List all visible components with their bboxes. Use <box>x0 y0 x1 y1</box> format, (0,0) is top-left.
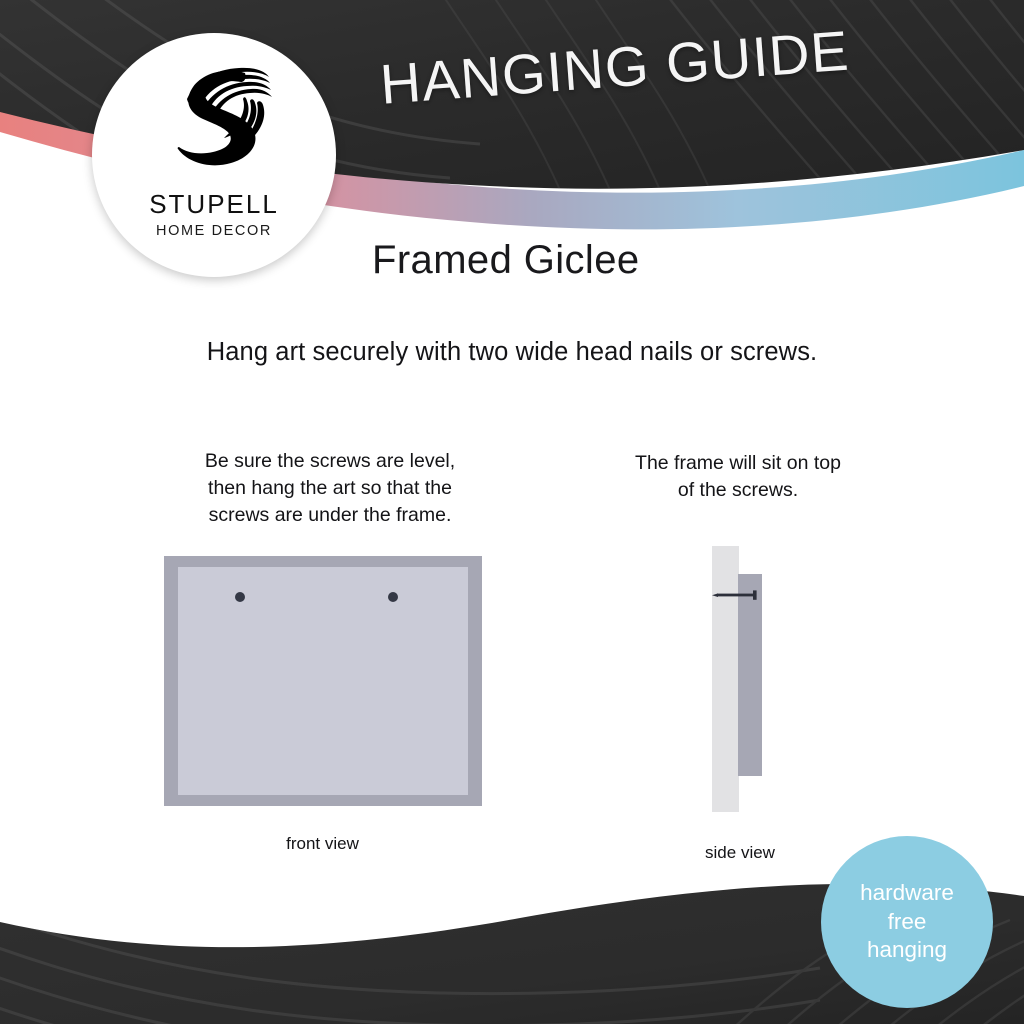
main-instruction-text: Hang art securely with two wide head nai… <box>0 338 1024 367</box>
badge-line-3: hanging <box>867 936 947 965</box>
stupell-swoosh-icon <box>151 59 277 189</box>
side-view-frame <box>738 574 762 776</box>
front-view-label: front view <box>170 834 475 854</box>
side-view-diagram <box>700 546 810 816</box>
badge-line-1: hardware <box>860 879 954 908</box>
screw-dot-left-icon <box>235 592 245 602</box>
side-view-wall <box>712 546 739 812</box>
page-title: HANGING GUIDE <box>378 18 851 117</box>
front-caption-line-3: screws are under the frame. <box>150 502 510 529</box>
side-view-label: side view <box>620 843 860 863</box>
front-view-artwork-panel <box>178 567 468 795</box>
side-view-caption: The frame will sit on top of the screws. <box>588 450 888 504</box>
logo-tagline: HOME DECOR <box>156 224 272 239</box>
front-view-diagram <box>164 556 482 806</box>
front-view-caption: Be sure the screws are level, then hang … <box>150 448 510 529</box>
badge-line-2: free <box>888 908 927 937</box>
nail-icon <box>712 588 764 602</box>
screw-dot-right-icon <box>388 592 398 602</box>
side-caption-line-1: The frame will sit on top <box>588 450 888 477</box>
hardware-free-hanging-badge: hardware free hanging <box>821 836 993 1008</box>
side-caption-line-2: of the screws. <box>588 477 888 504</box>
brand-logo-badge: STUPELL HOME DECOR <box>92 33 336 277</box>
front-caption-line-2: then hang the art so that the <box>150 475 510 502</box>
hanging-guide-page: HANGING GUIDE STUPELL HOME DECOR Framed … <box>0 0 1024 1024</box>
product-type-title: Framed Giclee <box>372 238 640 283</box>
front-caption-line-1: Be sure the screws are level, <box>150 448 510 475</box>
logo-wordmark: STUPELL <box>149 191 279 217</box>
